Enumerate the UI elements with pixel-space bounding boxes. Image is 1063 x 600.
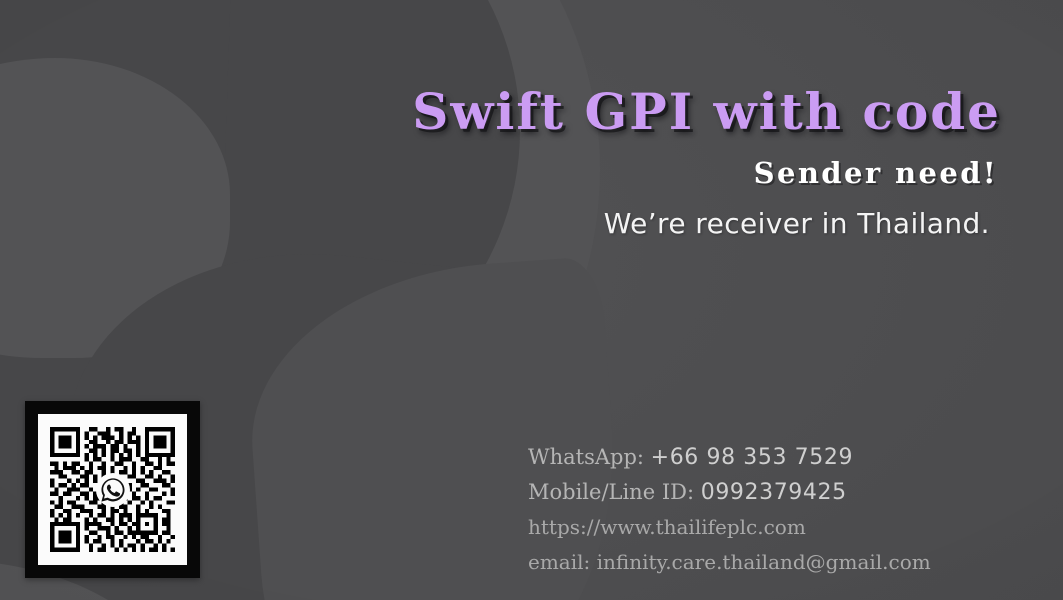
subheadline-text: Sender need! [754,156,998,190]
qr-code-frame[interactable] [25,401,200,578]
mobile-line-id-number[interactable]: 0992379425 [701,480,847,505]
contact-line-website: https://www.thailifeplc.com [528,510,998,545]
website-link[interactable]: https://www.thailifeplc.com [528,515,806,539]
qr-code-modules [50,426,175,553]
contact-line-email: email: infinity.care.thailand@gmail.com [528,545,998,580]
whatsapp-icon [96,473,130,507]
contact-line-mobile: Mobile/Line ID: 0992379425 [528,475,998,510]
mobile-line-id-label: Mobile/Line ID: [528,480,694,504]
headline-title: Swift GPI with code [412,82,1001,141]
contact-line-whatsapp: WhatsApp: +66 98 353 7529 [528,440,998,475]
whatsapp-number[interactable]: +66 98 353 7529 [651,445,853,470]
tagline-text: We’re receiver in Thailand. [604,207,990,240]
contact-block: WhatsApp: +66 98 353 7529 Mobile/Line ID… [528,440,998,580]
email-address[interactable]: infinity.care.thailand@gmail.com [597,550,931,574]
whatsapp-label: WhatsApp: [528,445,644,469]
business-card-banner: Swift GPI with code Sender need! We’re r… [0,0,1063,600]
card-content: Swift GPI with code Sender need! We’re r… [0,0,1063,600]
email-label: email: [528,550,590,574]
qr-code-quiet-zone [38,414,187,565]
